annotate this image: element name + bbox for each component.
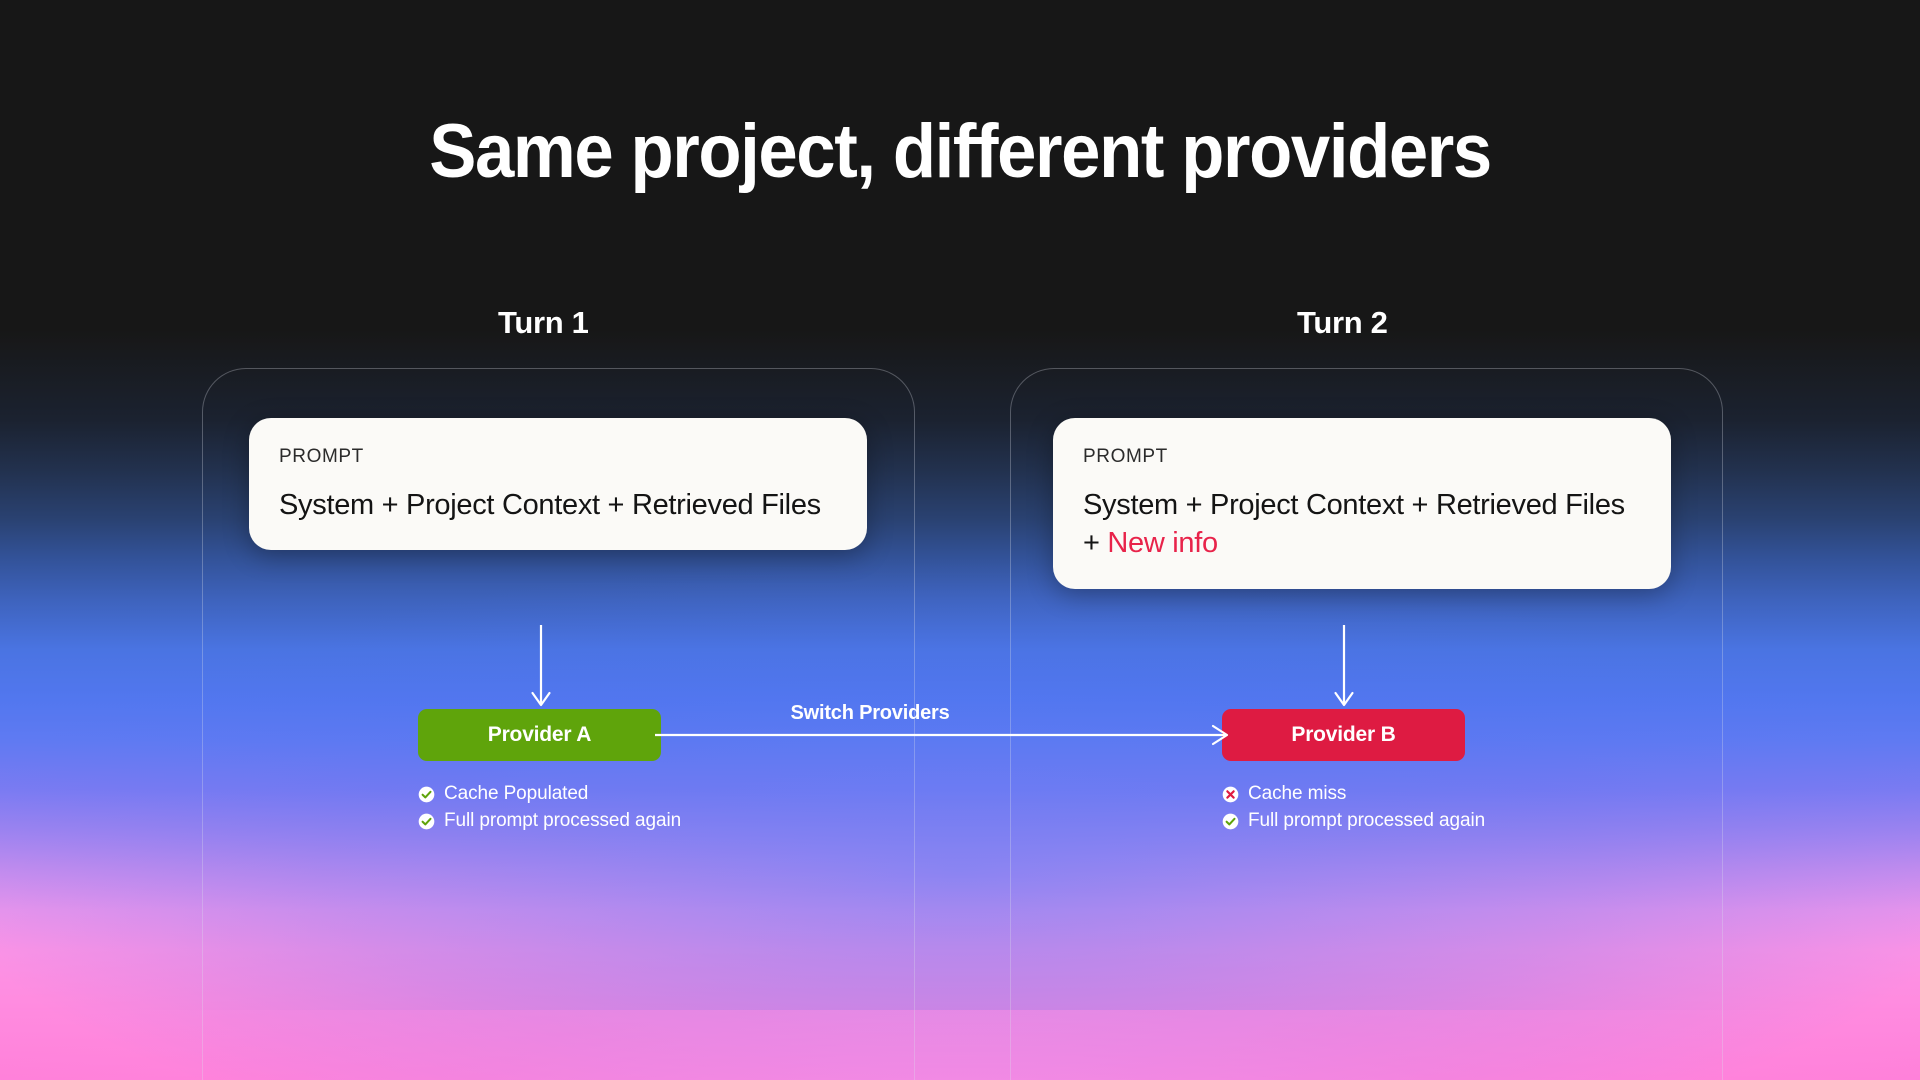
turn-2-heading: Turn 2 <box>1297 305 1388 341</box>
status-item: Full prompt processed again <box>418 810 681 832</box>
prompt-kicker-turn-2: PROMPT <box>1083 446 1641 468</box>
prompt-body-turn-1: System + Project Context + Retrieved Fil… <box>279 486 837 524</box>
status-label: Cache miss <box>1248 783 1346 805</box>
status-label: Cache Populated <box>444 783 588 805</box>
check-circle-icon <box>418 786 435 803</box>
prompt-body-turn-2: System + Project Context + Retrieved Fil… <box>1083 486 1641 563</box>
status-label: Full prompt processed again <box>444 810 681 832</box>
prompt-text-turn-1: System + Project Context + Retrieved Fil… <box>279 489 821 521</box>
prompt-kicker-turn-1: PROMPT <box>279 446 837 468</box>
provider-b-button[interactable]: Provider B <box>1222 709 1465 761</box>
arrow-down-turn-1 <box>530 625 552 711</box>
cross-circle-icon <box>1222 786 1239 803</box>
arrow-down-turn-2 <box>1333 625 1355 711</box>
page-title: Same project, different providers <box>67 108 1853 195</box>
prompt-card-turn-2: PROMPT System + Project Context + Retrie… <box>1053 418 1671 589</box>
status-list-turn-1: Cache Populated Full prompt processed ag… <box>418 783 681 832</box>
provider-a-button[interactable]: Provider A <box>418 709 661 761</box>
status-item: Cache Populated <box>418 783 681 805</box>
status-label: Full prompt processed again <box>1248 810 1485 832</box>
provider-a-label: Provider A <box>488 723 591 747</box>
status-list-turn-2: Cache miss Full prompt processed again <box>1222 783 1485 832</box>
check-circle-icon <box>1222 813 1239 830</box>
turn-1-heading: Turn 1 <box>498 305 589 341</box>
switch-providers-label: Switch Providers <box>790 702 949 725</box>
prompt-highlight-new-info: New info <box>1107 527 1217 559</box>
status-item: Cache miss <box>1222 783 1485 805</box>
prompt-card-turn-1: PROMPT System + Project Context + Retrie… <box>249 418 867 550</box>
diagram-canvas: Same project, different providers Turn 1… <box>0 0 1920 1080</box>
provider-b-label: Provider B <box>1291 723 1395 747</box>
status-item: Full prompt processed again <box>1222 810 1485 832</box>
check-circle-icon <box>418 813 435 830</box>
